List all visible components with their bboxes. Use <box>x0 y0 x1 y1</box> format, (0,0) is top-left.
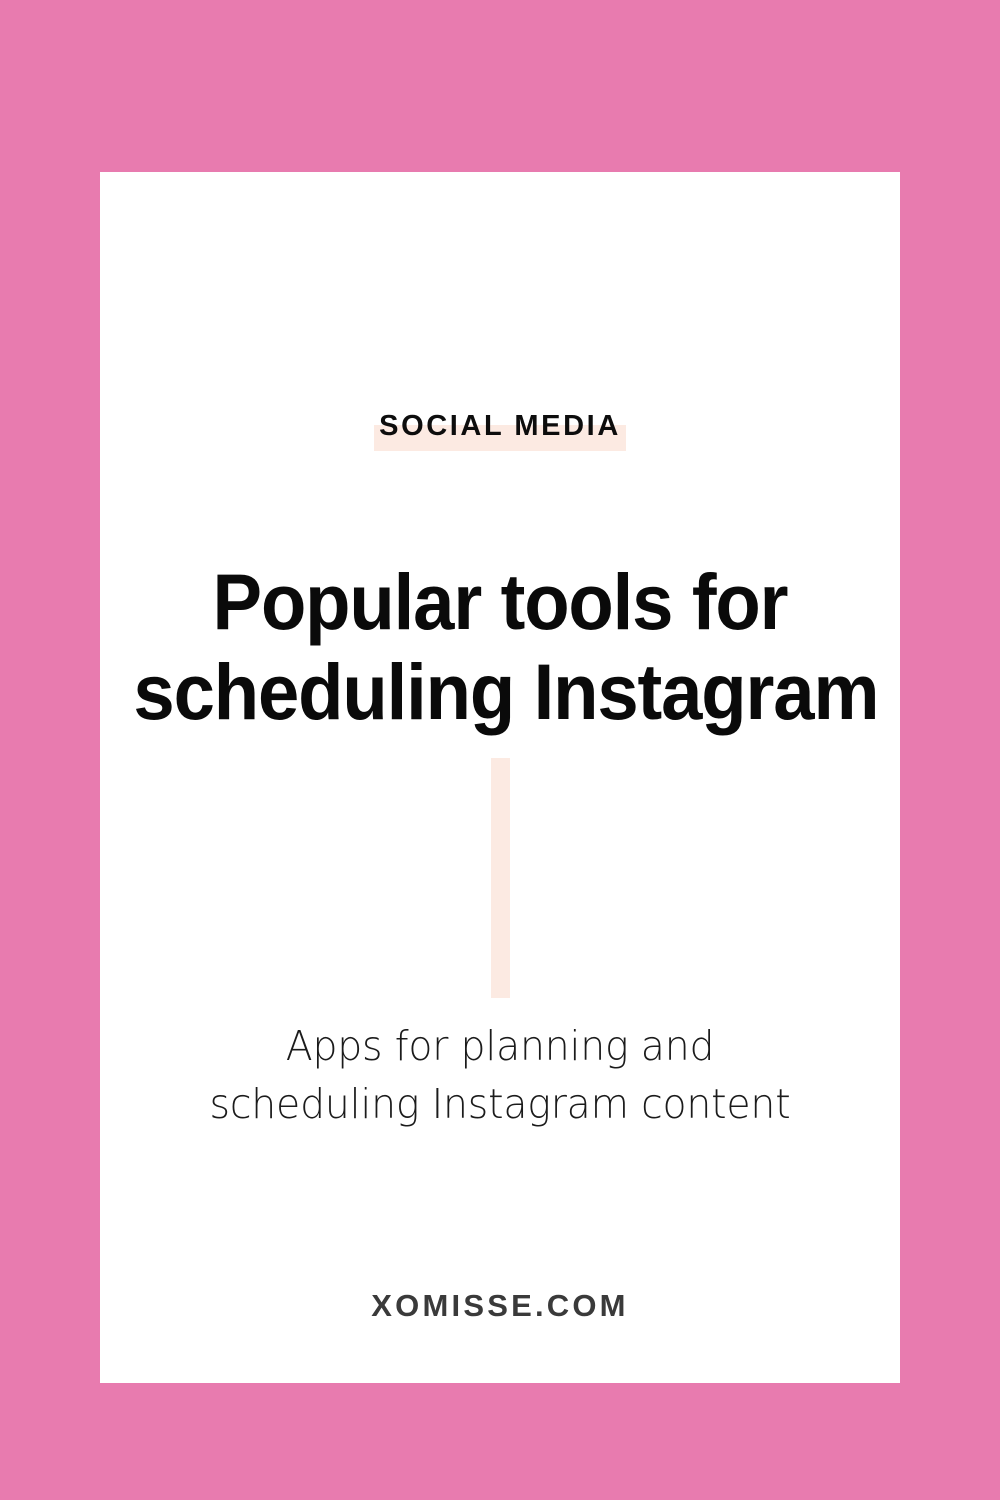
page-title: Popular tools for scheduling Instagram <box>133 557 866 737</box>
page-subtitle-line-1: Apps for planning and <box>154 1017 845 1075</box>
pin-graphic-canvas: SOCIAL MEDIA Popular tools for schedulin… <box>0 0 1000 1500</box>
page-title-line-2: scheduling Instagram <box>133 647 866 737</box>
site-url-footer: XOMISSE.COM <box>100 1288 900 1324</box>
content-card: SOCIAL MEDIA Popular tools for schedulin… <box>100 172 900 1383</box>
category-eyebrow: SOCIAL MEDIA <box>374 412 626 444</box>
page-title-line-1: Popular tools for <box>133 557 866 647</box>
vertical-divider <box>491 758 510 998</box>
category-eyebrow-label: SOCIAL MEDIA <box>379 410 621 442</box>
category-eyebrow-wrapper: SOCIAL MEDIA <box>100 412 900 444</box>
page-subtitle: Apps for planning and scheduling Instagr… <box>154 1017 845 1133</box>
page-subtitle-line-2: scheduling Instagram content <box>154 1075 845 1133</box>
